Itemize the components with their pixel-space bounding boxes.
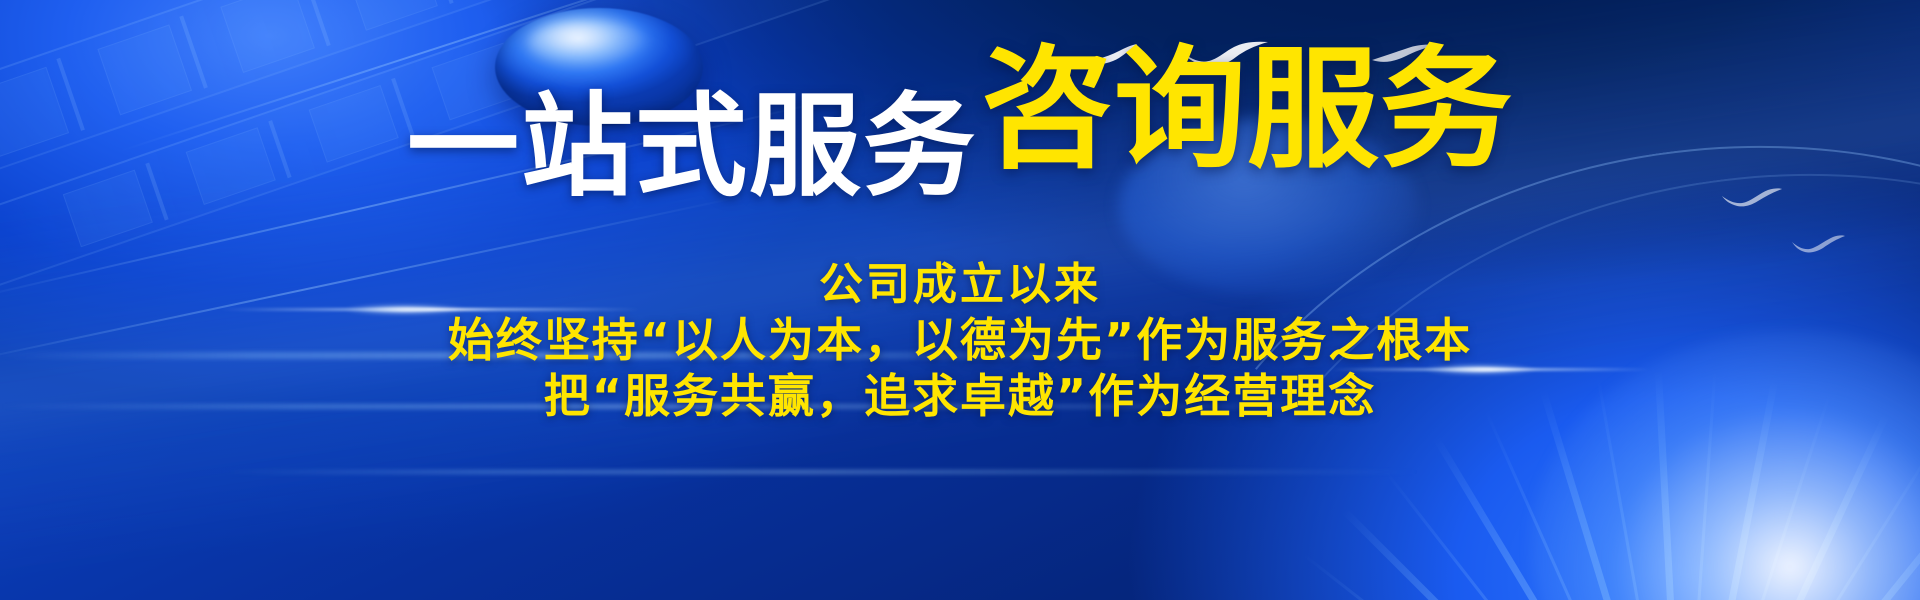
seagull-icon	[1370, 42, 1440, 68]
seagull-icon	[1720, 186, 1784, 210]
filmstrip-cell	[343, 0, 438, 31]
filmstrip-cell	[63, 170, 153, 248]
filmstrip-cell	[97, 24, 192, 115]
glow-band	[0, 404, 1340, 409]
seagull-icon	[1180, 38, 1272, 70]
filmstrip-cell	[220, 0, 315, 73]
banner-canvas: 一站式服务咨询服务 公司成立以来 始终坚持“以人为本，以德为先”作为服务之根本 …	[0, 0, 1920, 600]
lens-flare-core	[345, 305, 465, 314]
lens-flare-core	[1425, 365, 1535, 374]
filmstrip-cell	[186, 127, 276, 205]
filmstrip-cell	[309, 85, 399, 163]
seagull-icon	[1790, 234, 1846, 256]
seagull-icon	[1075, 42, 1171, 72]
glow-band	[0, 352, 1160, 359]
filmstrip-cell	[0, 67, 69, 158]
glow-band	[220, 470, 1420, 474]
glossy-ellipse-decoration	[495, 8, 703, 126]
